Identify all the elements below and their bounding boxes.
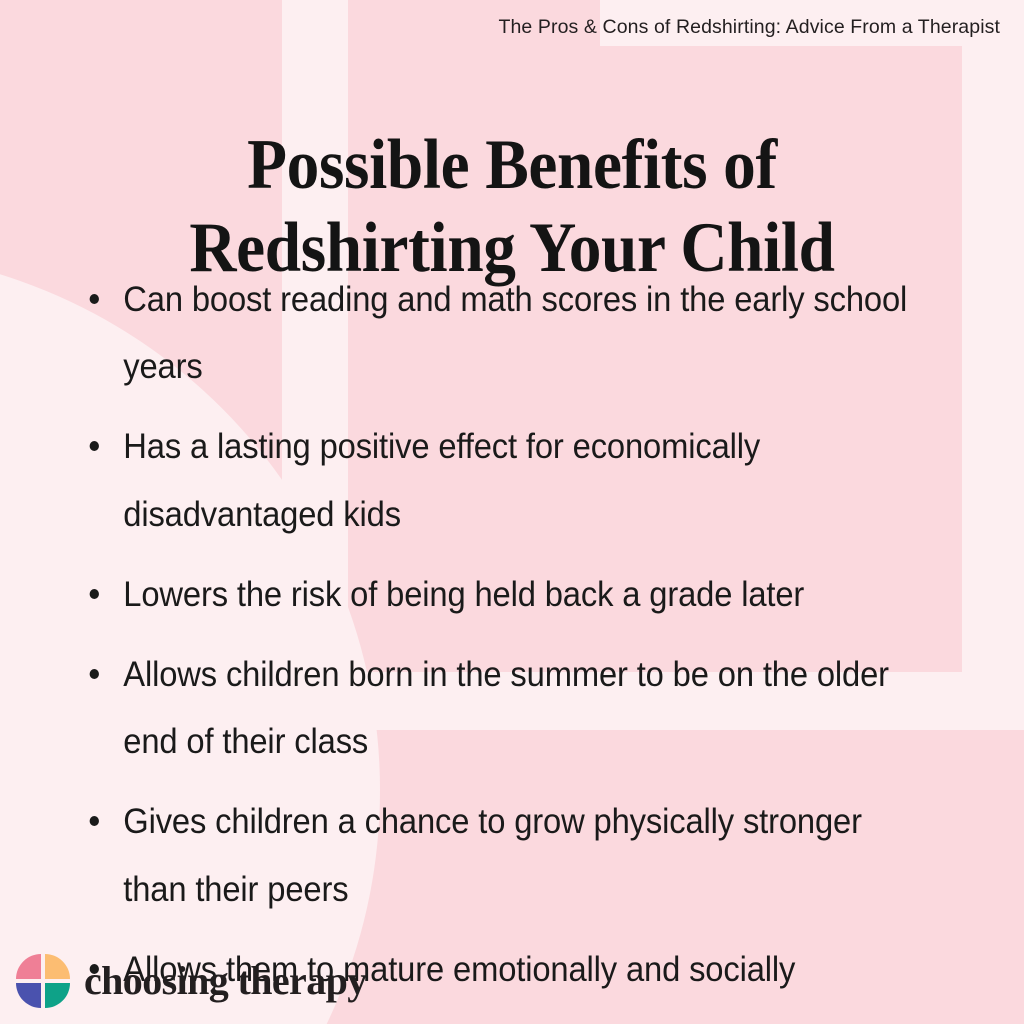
list-item-text: Gives children a chance to grow physical… [123,802,862,908]
list-item: Gives children a chance to grow physical… [84,788,930,922]
list-item-text: Can boost reading and math scores in the… [123,280,907,386]
content-area: The Pros & Cons of Redshirting: Advice F… [0,0,1024,1024]
list-item-text: Allows children born in the summer to be… [123,655,889,761]
brand-lockup[interactable]: choosing therapy [16,954,367,1008]
choosing-therapy-petal-logo-icon [16,954,70,1008]
logo-petal-top-right-icon [45,954,70,979]
bullet-icon [90,294,99,304]
logo-petal-top-left-icon [16,954,41,979]
list-item: Has a lasting positive effect for econom… [84,413,930,547]
bullet-icon [90,441,99,451]
list-item: Allows children born in the summer to be… [84,641,930,775]
list-item: Can boost reading and math scores in the… [84,266,930,400]
infographic-canvas: The Pros & Cons of Redshirting: Advice F… [0,0,1024,1024]
bullet-icon [90,589,99,599]
brand-wordmark: choosing therapy [84,961,367,1001]
list-item-text: Lowers the risk of being held back a gra… [123,575,804,614]
list-item-text: Has a lasting positive effect for econom… [123,427,760,533]
list-item: Lowers the risk of being held back a gra… [84,561,930,628]
bullet-icon [90,669,99,679]
article-kicker: The Pros & Cons of Redshirting: Advice F… [498,16,1000,39]
logo-petal-bottom-right-icon [45,983,70,1008]
bullet-icon [90,816,99,826]
logo-petal-bottom-left-icon [16,983,41,1008]
benefits-list: Can boost reading and math scores in the… [84,266,989,1016]
page-title-line-1: Possible Benefits of [247,126,777,204]
